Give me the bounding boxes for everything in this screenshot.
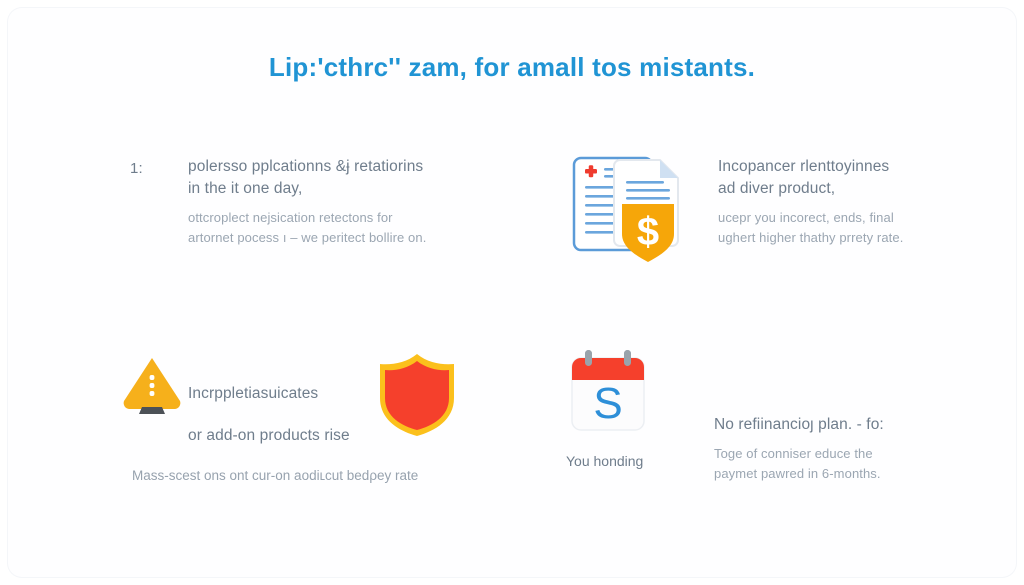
top-right-sub-line2: ughert higher thathy prrety rate. <box>718 228 968 248</box>
bottom-left-heading-line1: Incrppletiasuicates <box>188 383 378 405</box>
quadrant-bottom-right-text: No refiinancioȷ plan. - fo: Toge of conn… <box>714 414 970 484</box>
top-left-subblock: ottcroplect nejsication retectons for ar… <box>188 208 490 248</box>
quadrant-top-right: Incopancer rlenttoyinnes ad diver produc… <box>718 156 968 248</box>
bottom-right-heading-line1: No refiinancioȷ plan. - fo: <box>714 414 970 436</box>
top-right-heading-line2: ad diver product, <box>718 178 968 200</box>
infographic-card: Lip:'cthrc'' zam, for amall tos mistants… <box>8 8 1016 577</box>
list-marker-1: 1: <box>130 158 143 180</box>
top-right-subblock: ucepr you incorect, ends, final ughert h… <box>718 208 968 248</box>
bottom-right-subblock: Toge of conniser educe the paymet pawred… <box>714 444 970 484</box>
quadrant-bottom-left-text: Incrppletiasuicates or add-on products r… <box>188 383 378 447</box>
top-right-heading-line1: Incopancer rlenttoyinnes <box>718 156 968 178</box>
svg-text:$: $ <box>637 210 659 254</box>
bottom-left-caption: Mass-scest ons ont cur-on aodiʟcut bedρe… <box>132 466 492 486</box>
page-title: Lip:'cthrc'' zam, for amall tos mistants… <box>8 52 1016 83</box>
bottom-right-sub-line2: paymet pawred in 6-months. <box>714 464 970 484</box>
bottom-right-sub-line1: Toge of conniser educe the <box>714 444 970 464</box>
medical-document-shield-dollar-icon: $ <box>564 144 692 266</box>
calendar-dollar-icon: S <box>566 346 652 438</box>
top-left-sub-line1: ottcroplect nejsication retectons for <box>188 208 490 228</box>
top-left-heading-line2: in the it one day, <box>188 178 490 200</box>
bottom-left-heading-line2: or add-on products rise <box>188 425 378 447</box>
svg-text:S: S <box>593 379 622 428</box>
top-left-heading-line1: polersso pplcationns &ɉ retatiorins <box>188 156 490 178</box>
red-shield-icon <box>376 351 458 439</box>
calendar-caption: You honding <box>566 451 726 471</box>
warning-triangle-icon <box>118 353 186 415</box>
top-left-body: polersso pplcationns &ɉ retatiorins in t… <box>188 156 490 248</box>
quadrant-top-left: 1: polersso pplcationns &ɉ retatiorins i… <box>130 156 490 248</box>
calendar-caption-wrap: You honding <box>566 451 726 471</box>
top-right-sub-line1: ucepr you incorect, ends, final <box>718 208 968 228</box>
bottom-left-caption-wrap: Mass-scest ons ont cur-on aodiʟcut bedρe… <box>132 466 492 486</box>
top-left-sub-line2: artornet pocess ı – we peritect bollire … <box>188 228 490 248</box>
